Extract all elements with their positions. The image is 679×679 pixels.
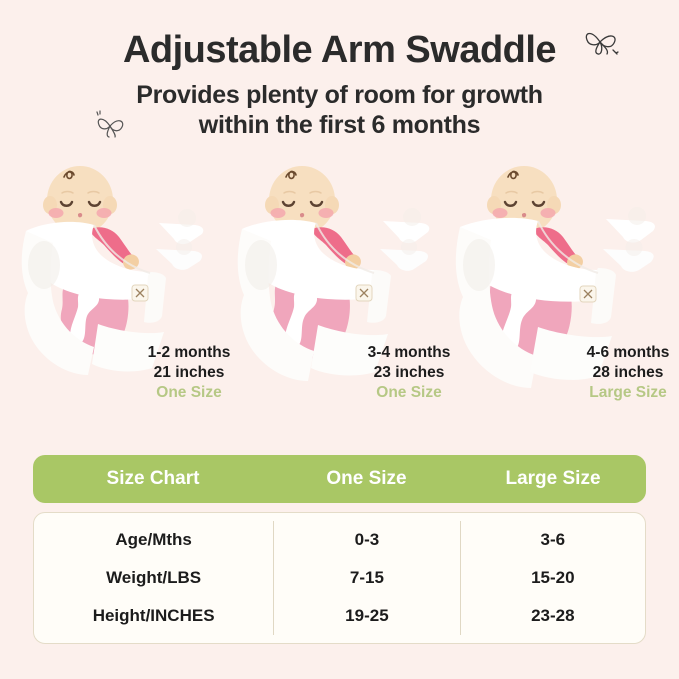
swaddle-item-2: 3-4 months 23 inches One Size xyxy=(226,153,452,413)
row-label-age: Age/Mths xyxy=(34,521,273,559)
swaddle-item-3: 4-6 months 28 inches Large Size xyxy=(448,153,674,413)
size-chart-header-title: Size Chart xyxy=(33,468,273,490)
swaddle-tag-1 xyxy=(132,285,148,301)
row-height-large-size: 23-28 xyxy=(460,597,645,635)
row-weight-one-size: 7-15 xyxy=(273,559,459,597)
row-height-one-size: 19-25 xyxy=(273,597,459,635)
swaddle-inches-3: 28 inches xyxy=(548,363,679,383)
page-subtitle: Provides plenty of room for growth withi… xyxy=(0,80,679,141)
size-chart-header-row: Size Chart One Size Large Size xyxy=(33,455,646,503)
size-chart: Size Chart One Size Large Size Age/Mths … xyxy=(33,455,646,644)
table-row: Height/INCHES 19-25 23-28 xyxy=(34,597,645,635)
swaddle-item-1: 1-2 months 21 inches One Size xyxy=(4,153,230,413)
row-age-one-size: 0-3 xyxy=(273,521,459,559)
table-row: Weight/LBS 7-15 15-20 xyxy=(34,559,645,597)
subtitle-line-1: Provides plenty of room for growth xyxy=(136,81,543,109)
swaddle-side-flaps-1 xyxy=(156,209,203,270)
row-weight-large-size: 15-20 xyxy=(460,559,645,597)
page-title: Adjustable Arm Swaddle xyxy=(0,30,679,72)
size-chart-header-one-size: One Size xyxy=(273,468,460,490)
header: Adjustable Arm Swaddle Provides plenty o… xyxy=(0,0,679,141)
swaddle-size-label-3: 4-6 months 28 inches Large Size xyxy=(548,343,679,403)
subtitle-line-2: within the first 6 months xyxy=(199,111,480,139)
row-label-height: Height/INCHES xyxy=(34,597,273,635)
swaddle-tag-2 xyxy=(356,285,372,301)
row-label-weight: Weight/LBS xyxy=(34,559,273,597)
swaddle-side-flaps-3 xyxy=(603,207,655,272)
swaddle-months-3: 4-6 months xyxy=(548,343,679,363)
size-chart-body: Age/Mths 0-3 3-6 Weight/LBS 7-15 15-20 H… xyxy=(33,512,646,644)
swaddle-side-flaps-2 xyxy=(380,208,429,271)
size-chart-header-large-size: Large Size xyxy=(460,468,646,490)
swaddle-tag-3 xyxy=(580,286,596,302)
table-row: Age/Mths 0-3 3-6 xyxy=(34,521,645,559)
row-age-large-size: 3-6 xyxy=(460,521,645,559)
swaddle-sizename-3: Large Size xyxy=(548,383,679,403)
swaddle-illustrations: 1-2 months 21 inches One Size xyxy=(0,153,679,413)
